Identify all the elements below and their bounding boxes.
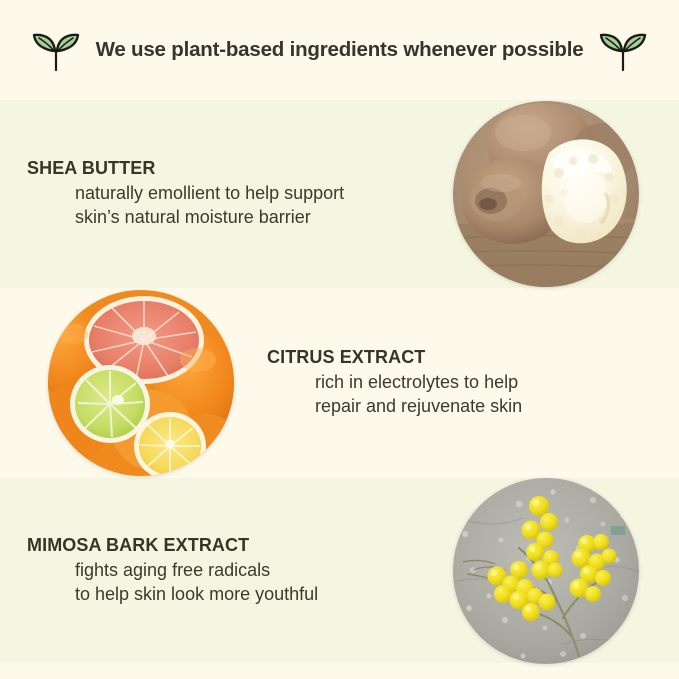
header: We use plant-based ingredients whenever … bbox=[0, 0, 679, 100]
ingredient-description-line: naturally emollient to help support bbox=[75, 182, 344, 206]
ingredient-row-citrus-extract: CITRUS EXTRACT rich in electrolytes to h… bbox=[0, 288, 679, 478]
ingredient-text-block: SHEA BUTTER naturally emollient to help … bbox=[0, 158, 344, 230]
ingredient-title: MIMOSA BARK EXTRACT bbox=[27, 535, 318, 556]
ingredient-description-line: repair and rejuvenate skin bbox=[315, 395, 522, 419]
sprout-icon bbox=[30, 26, 82, 74]
band-footer bbox=[0, 663, 679, 679]
shea-butter-photo bbox=[453, 101, 639, 287]
ingredient-description: fights aging free radicals to help skin … bbox=[27, 559, 318, 607]
ingredient-description-line: fights aging free radicals bbox=[75, 559, 318, 583]
ingredient-row-mimosa-bark-extract: MIMOSA BARK EXTRACT fights aging free ra… bbox=[0, 478, 679, 663]
ingredient-description: rich in electrolytes to help repair and … bbox=[267, 371, 522, 419]
ingredient-description-line: rich in electrolytes to help bbox=[315, 371, 522, 395]
ingredient-title: SHEA BUTTER bbox=[27, 158, 344, 179]
ingredient-description-line: to help skin look more youthful bbox=[75, 583, 318, 607]
ingredient-title: CITRUS EXTRACT bbox=[267, 347, 522, 368]
header-title: We use plant-based ingredients whenever … bbox=[96, 38, 584, 62]
ingredient-description-line: skin’s natural moisture barrier bbox=[75, 206, 344, 230]
ingredient-text-block: MIMOSA BARK EXTRACT fights aging free ra… bbox=[0, 535, 318, 607]
ingredient-text-block: CITRUS EXTRACT rich in electrolytes to h… bbox=[234, 347, 522, 419]
ingredient-description: naturally emollient to help support skin… bbox=[27, 182, 344, 230]
ingredient-row-shea-butter: SHEA BUTTER naturally emollient to help … bbox=[0, 100, 679, 288]
citrus-extract-photo bbox=[48, 290, 234, 476]
mimosa-bark-extract-photo bbox=[453, 478, 639, 664]
sprout-icon bbox=[597, 26, 649, 74]
ingredients-infographic: We use plant-based ingredients whenever … bbox=[0, 0, 679, 679]
